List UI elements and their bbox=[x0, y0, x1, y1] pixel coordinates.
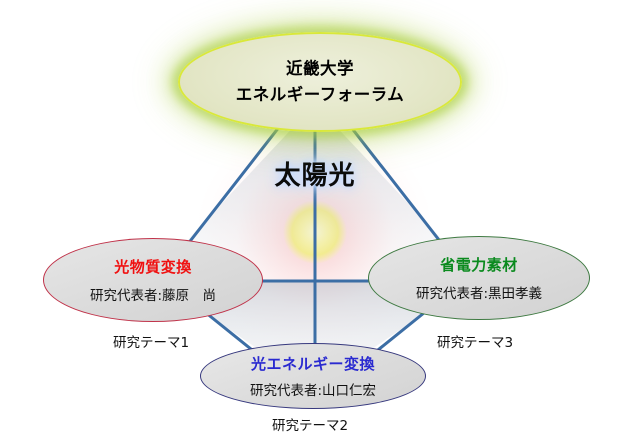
center-keyword-sunlight: 太陽光 bbox=[266, 156, 364, 190]
node-theme1-photochemical-conversion[interactable]: 光物質変換 研究代表者:藤原 尚 bbox=[43, 238, 263, 322]
caption-theme3: 研究テーマ3 bbox=[437, 331, 513, 351]
node-theme3-title: 省電力素材 bbox=[440, 254, 518, 275]
node-theme2-light-energy-conversion[interactable]: 光エネルギー変換 研究代表者:山口仁宏 bbox=[200, 343, 426, 409]
node-theme3-power-saving-materials[interactable]: 省電力素材 研究代表者:黒田孝義 bbox=[368, 236, 590, 320]
node-kindai-university-energy-forum[interactable]: 近畿大学 エネルギーフォーラム bbox=[178, 32, 462, 132]
caption-theme1: 研究テーマ1 bbox=[113, 331, 189, 351]
hub-title-line1: 近畿大学 bbox=[286, 59, 354, 78]
node-theme1-lead: 研究代表者:藤原 尚 bbox=[90, 284, 216, 304]
node-theme3-lead: 研究代表者:黒田孝義 bbox=[416, 282, 542, 302]
node-theme2-title: 光エネルギー変換 bbox=[251, 353, 375, 374]
node-theme2-lead: 研究代表者:山口仁宏 bbox=[250, 379, 376, 399]
node-theme1-title: 光物質変換 bbox=[114, 256, 192, 277]
hub-title-line2: エネルギーフォーラム bbox=[236, 85, 405, 104]
caption-theme2: 研究テーマ2 bbox=[272, 414, 348, 434]
diagram-canvas: 太陽光 近畿大学 エネルギーフォーラム 光物質変換 研究代表者:藤原 尚 研究テ… bbox=[0, 0, 630, 442]
node-hub-title: 近畿大学 エネルギーフォーラム bbox=[236, 56, 405, 108]
